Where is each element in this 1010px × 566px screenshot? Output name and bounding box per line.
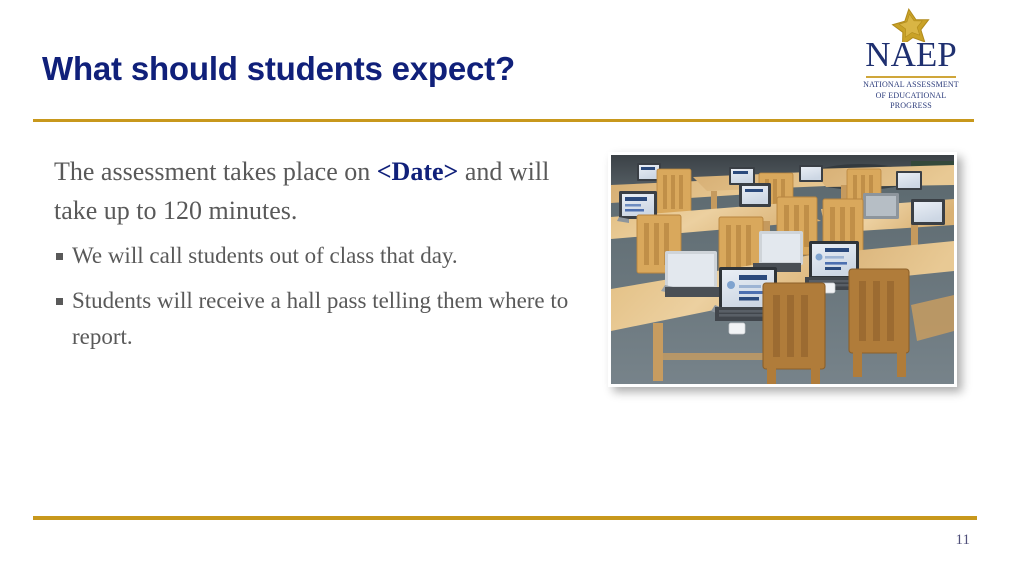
list-item: We will call students out of class that … bbox=[54, 238, 572, 274]
naep-tagline: NATIONAL ASSESSMENT OF EDUCATIONAL PROGR… bbox=[858, 80, 964, 112]
classroom-tablets-photo bbox=[608, 152, 957, 387]
naep-logo: NAEP NATIONAL ASSESSMENT OF EDUCATIONAL … bbox=[858, 8, 964, 112]
footer-divider bbox=[33, 516, 977, 520]
header-divider bbox=[33, 119, 974, 122]
page-number: 11 bbox=[930, 532, 970, 549]
bullet-list: We will call students out of class that … bbox=[54, 238, 594, 355]
naep-wordmark: NAEP bbox=[858, 36, 964, 74]
content-body: The assessment takes place on <Date> and… bbox=[54, 152, 594, 364]
date-placeholder-token: <Date> bbox=[377, 157, 459, 186]
page-title: What should students expect? bbox=[42, 48, 802, 90]
list-item-label: Students will receive a hall pass tellin… bbox=[72, 288, 568, 349]
lead-text-before-date: The assessment takes place on bbox=[54, 157, 377, 186]
photo-image bbox=[611, 155, 954, 384]
logo-underline bbox=[866, 76, 956, 78]
square-bullet-icon bbox=[56, 253, 63, 260]
naep-tagline-line-1: NATIONAL ASSESSMENT bbox=[858, 80, 964, 91]
lead-paragraph: The assessment takes place on <Date> and… bbox=[54, 152, 589, 230]
slide-canvas: What should students expect? NAEP NATION… bbox=[0, 0, 1010, 566]
naep-tagline-line-3: PROGRESS bbox=[858, 101, 964, 112]
list-item-label: We will call students out of class that … bbox=[72, 243, 458, 268]
list-item: Students will receive a hall pass tellin… bbox=[54, 283, 572, 355]
naep-tagline-line-2: OF EDUCATIONAL bbox=[858, 91, 964, 102]
square-bullet-icon bbox=[56, 298, 63, 305]
